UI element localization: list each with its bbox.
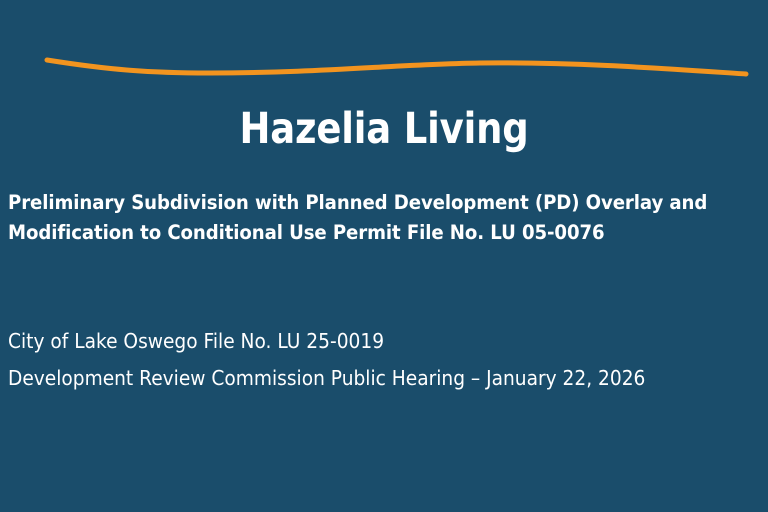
- meta-block: City of Lake Oswego File No. LU 25-0019 …: [8, 323, 760, 397]
- subtitle-line-1: Preliminary Subdivision with Planned Dev…: [8, 188, 707, 218]
- orange-swoosh-icon: [0, 0, 768, 110]
- meta-line-hearing-date: Development Review Commission Public Hea…: [8, 360, 707, 397]
- subtitle-line-2: Modification to Conditional Use Permit F…: [8, 218, 707, 248]
- subtitle-block: Preliminary Subdivision with Planned Dev…: [8, 188, 760, 248]
- page-title: Hazelia Living: [54, 103, 714, 155]
- meta-line-file-number: City of Lake Oswego File No. LU 25-0019: [8, 323, 707, 360]
- title-slide: Hazelia Living Preliminary Subdivision w…: [0, 0, 768, 512]
